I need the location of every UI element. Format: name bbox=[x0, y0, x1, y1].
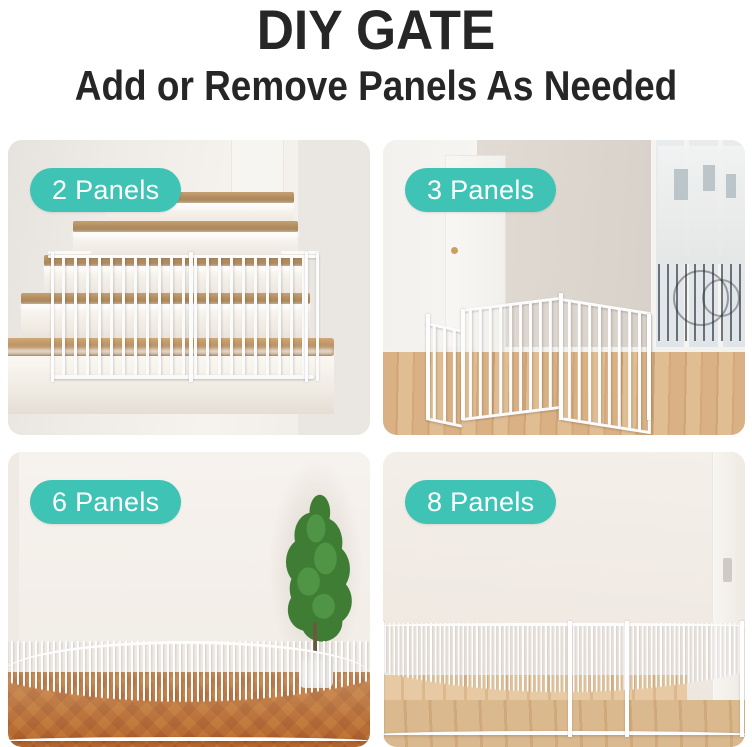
page-title: DIY GATE bbox=[30, 0, 722, 62]
badge-3-panels: 3 Panels bbox=[405, 168, 556, 212]
building-outside bbox=[658, 146, 745, 264]
badge-2-panels: 2 Panels bbox=[30, 168, 181, 212]
tile-2-panels[interactable]: 2 Panels bbox=[8, 140, 370, 435]
panel-image-grid: 2 Panels bbox=[0, 130, 752, 747]
gate-post bbox=[51, 252, 54, 382]
stair-step bbox=[73, 221, 297, 254]
gate-mount-arm bbox=[48, 251, 91, 254]
safety-gate-3-panel bbox=[426, 288, 650, 421]
safety-gate-2-panel bbox=[48, 255, 320, 379]
gate-post bbox=[625, 621, 629, 737]
gate-bars bbox=[53, 257, 314, 375]
gate-post bbox=[568, 621, 572, 737]
tile-3-panels[interactable]: 3 Panels bbox=[383, 140, 745, 435]
tile-6-panels[interactable]: 6 Panels bbox=[8, 452, 370, 747]
gate-panel bbox=[426, 322, 462, 428]
tile-8-panels[interactable]: 8 Panels bbox=[383, 452, 745, 747]
page-subtitle: Add or Remove Panels As Needed bbox=[45, 62, 707, 110]
gate-bars bbox=[383, 623, 745, 735]
gate-post bbox=[740, 621, 744, 737]
safety-gate-8-panel bbox=[383, 623, 745, 735]
gate-post bbox=[461, 309, 465, 421]
gate-post bbox=[559, 293, 563, 420]
gate-mount-arm bbox=[281, 251, 319, 254]
door-knob-icon bbox=[451, 247, 458, 254]
header: DIY GATE Add or Remove Panels As Needed bbox=[0, 0, 752, 130]
gate-post bbox=[189, 252, 193, 382]
gate-post bbox=[383, 621, 384, 737]
gate-panel bbox=[462, 297, 561, 421]
gate-bottom-rail bbox=[383, 731, 745, 735]
badge-6-panels: 6 Panels bbox=[30, 480, 181, 524]
gate-panel bbox=[561, 298, 651, 434]
door-handle-icon bbox=[723, 558, 732, 582]
gate-post bbox=[426, 314, 430, 420]
gate-top-rail bbox=[8, 641, 370, 741]
gate-extension-post bbox=[316, 253, 319, 381]
gate-top-rail bbox=[383, 623, 745, 626]
gate-bottom-rail bbox=[53, 375, 314, 379]
gate-post bbox=[305, 252, 308, 382]
gate-post bbox=[647, 314, 651, 420]
gate-bottom-rail bbox=[8, 737, 370, 741]
safety-gate-6-panel bbox=[8, 641, 370, 741]
badge-8-panels: 8 Panels bbox=[405, 480, 556, 524]
balcony-scroll-ornament bbox=[702, 279, 740, 317]
